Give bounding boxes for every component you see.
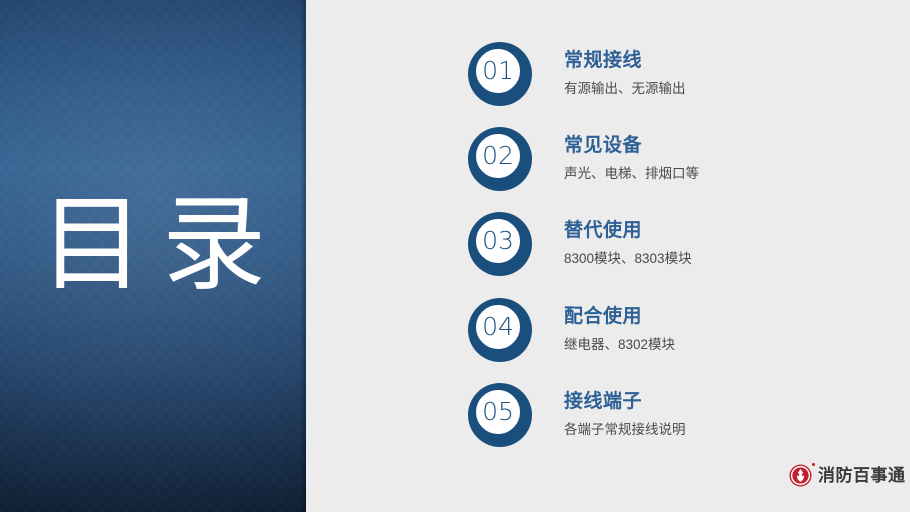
page-title: 目录	[0, 186, 306, 304]
toc-heading: 替代使用	[564, 218, 692, 244]
logo-accent-dot	[812, 463, 815, 466]
toc-subtitle: 继电器、8302模块	[564, 334, 675, 356]
toc-item-01[interactable]: 01 常规接线 有源输出、无源输出	[306, 32, 910, 116]
toc-number: 01	[482, 58, 514, 84]
logo-text: 消防百事通	[818, 464, 906, 487]
toc-number: 04	[482, 314, 514, 340]
toc-heading: 常见设备	[564, 133, 699, 159]
toc-number: 03	[482, 228, 514, 254]
toc-number: 02	[482, 143, 514, 169]
fire-safety-circle-icon	[789, 464, 812, 487]
toc-badge-05: 05	[466, 381, 534, 449]
slide-canvas: 目录 01 常规接线 有源输出、无源输出 02	[0, 0, 910, 512]
toc-item-02[interactable]: 02 常见设备 声光、电梯、排烟口等	[306, 117, 910, 201]
toc-heading: 配合使用	[564, 304, 675, 330]
toc-item-05[interactable]: 05 接线端子 各端子常规接线说明	[306, 373, 910, 457]
badge-disc: 05	[472, 386, 524, 438]
toc-badge-04: 04	[466, 296, 534, 364]
toc-text-block: 常规接线 有源输出、无源输出	[564, 48, 686, 100]
toc-text-block: 替代使用 8300模块、8303模块	[564, 218, 692, 270]
toc-badge-02: 02	[466, 125, 534, 193]
toc-badge-03: 03	[466, 210, 534, 278]
table-of-contents: 01 常规接线 有源输出、无源输出 02 常见设备 声光、电梯、排烟口等	[306, 0, 910, 512]
toc-subtitle: 有源输出、无源输出	[564, 78, 686, 100]
toc-text-block: 常见设备 声光、电梯、排烟口等	[564, 133, 699, 185]
brand-logo: 消防百事通	[789, 461, 906, 489]
badge-disc: 04	[472, 301, 524, 353]
toc-badge-01: 01	[466, 40, 534, 108]
toc-subtitle: 声光、电梯、排烟口等	[564, 163, 699, 185]
toc-number: 05	[482, 399, 514, 425]
toc-heading: 接线端子	[564, 389, 686, 415]
badge-disc: 01	[472, 45, 524, 97]
toc-subtitle: 8300模块、8303模块	[564, 248, 692, 270]
toc-text-block: 配合使用 继电器、8302模块	[564, 304, 675, 356]
badge-disc: 02	[472, 130, 524, 182]
toc-subtitle: 各端子常规接线说明	[564, 419, 686, 441]
toc-item-03[interactable]: 03 替代使用 8300模块、8303模块	[306, 202, 910, 286]
toc-text-block: 接线端子 各端子常规接线说明	[564, 389, 686, 441]
left-title-panel: 目录	[0, 0, 306, 512]
badge-disc: 03	[472, 215, 524, 267]
toc-item-04[interactable]: 04 配合使用 继电器、8302模块	[306, 288, 910, 372]
toc-heading: 常规接线	[564, 48, 686, 74]
